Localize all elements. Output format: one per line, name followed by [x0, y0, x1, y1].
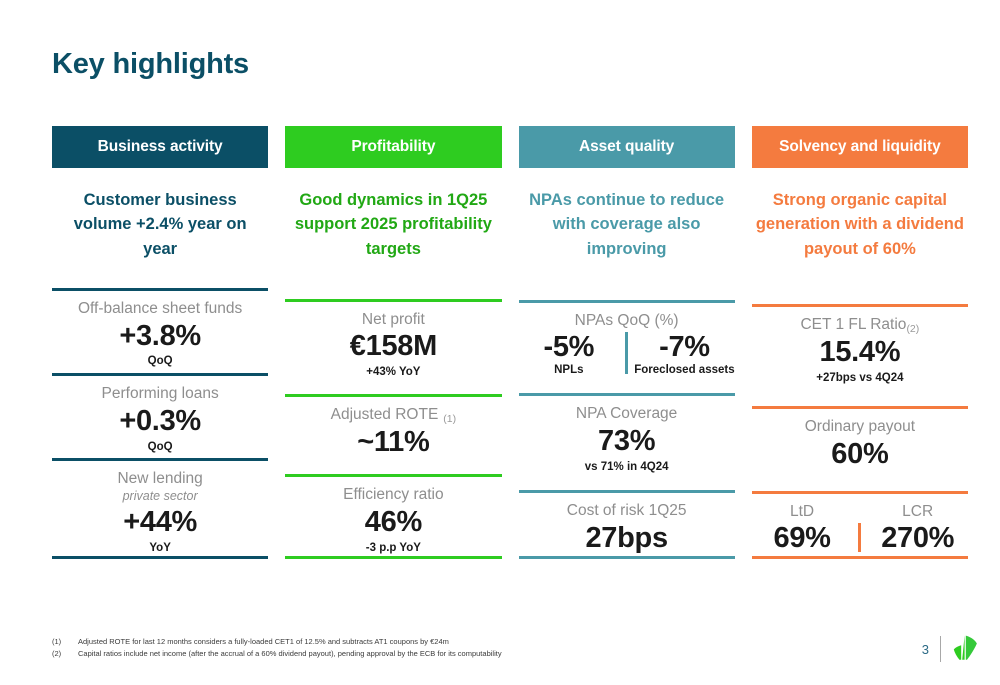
column-header-asset-quality[interactable]: Asset quality	[519, 126, 735, 168]
split-half-left: 69%	[752, 521, 853, 555]
column-statement-business-activity: Customer business volume +2.4% year on y…	[52, 188, 268, 284]
metric-label-text: Off-balance sheet funds	[78, 300, 242, 317]
metric-block: LtDLCR69%270%	[752, 491, 968, 558]
metric-value: +0.3%	[52, 405, 268, 439]
footnotes: (1)Adjusted ROTE for last 12 months cons…	[52, 636, 502, 659]
spacer	[752, 386, 968, 406]
metric-note-left: NPLs	[519, 364, 620, 378]
metric-value-left: -5%	[519, 330, 620, 364]
column-business-activity: Business activityCustomer business volum…	[52, 126, 268, 559]
column-statement-profitability: Good dynamics in 1Q25 support 2025 profi…	[285, 188, 501, 284]
split-label-row: LtDLCR	[752, 503, 968, 521]
metric-label-text: Net profit	[362, 311, 425, 328]
split-half-left: -5%NPLs	[519, 330, 620, 378]
metric-value: 73%	[519, 425, 735, 459]
metric-label: CET 1 FL Ratio(2)	[752, 316, 968, 334]
metric-value: 27bps	[519, 522, 735, 556]
metric-label-text: CET 1 FL Ratio	[800, 316, 906, 333]
footnote-text: Adjusted ROTE for last 12 months conside…	[78, 636, 449, 648]
metric-label: Ordinary payout	[752, 418, 968, 436]
metric-value: +44%	[52, 506, 268, 540]
page-meta: 3	[922, 634, 978, 664]
spacer	[285, 380, 501, 395]
metric-value-left: 69%	[752, 521, 853, 555]
footnote-number: (2)	[52, 648, 78, 660]
metric-label: Efficiency ratio	[285, 486, 501, 504]
metric-value: 15.4%	[752, 336, 968, 370]
metric-value-right: 270%	[867, 521, 968, 555]
metric-value: €158M	[285, 330, 501, 364]
column-solvency-and-liquidity: Solvency and liquidityStrong organic cap…	[752, 126, 968, 559]
split-value-row: 69%270%	[752, 521, 968, 555]
metric-block: Off-balance sheet funds+3.8%QoQ	[52, 288, 268, 369]
metric-block: Performing loans+0.3%QoQ	[52, 373, 268, 454]
spacer	[752, 284, 968, 304]
sabadell-leaf-logo	[952, 634, 978, 664]
metric-label: Adjusted ROTE(1)	[285, 406, 501, 424]
metric-value: +3.8%	[52, 320, 268, 354]
metric-label-text: Efficiency ratio	[343, 486, 444, 503]
metric-value: 60%	[752, 438, 968, 472]
column-header-profitability[interactable]: Profitability	[285, 126, 501, 168]
metric-block: Adjusted ROTE(1)~11%	[285, 394, 501, 459]
spacer	[285, 460, 501, 475]
footnote-marker: (1)	[443, 413, 456, 425]
metric-label-right: LCR	[867, 503, 968, 521]
footnote-marker: (2)	[906, 323, 919, 335]
metric-block: NPA Coverage73%vs 71% in 4Q24	[519, 393, 735, 474]
metric-note: vs 71% in 4Q24	[519, 461, 735, 475]
metric-label-text: Ordinary payout	[805, 418, 915, 435]
spacer	[519, 284, 735, 300]
metric-value: ~11%	[285, 426, 501, 460]
spacer	[285, 284, 501, 299]
metric-block: NPAs QoQ (%)-5%NPLs-7%Foreclosed assets	[519, 300, 735, 378]
metric-block: Cost of risk 1Q2527bps	[519, 490, 735, 558]
metric-sublabel: private sector	[52, 489, 268, 504]
footnote-text: Capital ratios include net income (after…	[78, 648, 502, 660]
page-number: 3	[922, 642, 929, 657]
footnote-item: (1)Adjusted ROTE for last 12 months cons…	[52, 636, 502, 648]
spacer	[852, 503, 867, 521]
metric-label: Cost of risk 1Q25	[519, 502, 735, 520]
metric-label: Performing loans	[52, 385, 268, 403]
metric-note: YoY	[52, 542, 268, 556]
footnote-number: (1)	[52, 636, 78, 648]
column-statement-solvency-and-liquidity: Strong organic capital generation with a…	[752, 188, 968, 284]
metric-note-right: Foreclosed assets	[634, 364, 735, 378]
metric-label-left: LtD	[752, 503, 853, 521]
metric-note: QoQ	[52, 441, 268, 455]
split-half-right: -7%Foreclosed assets	[634, 330, 735, 378]
column-header-solvency-and-liquidity[interactable]: Solvency and liquidity	[752, 126, 968, 168]
metric-label-text: New lending	[117, 470, 202, 487]
metric-note: QoQ	[52, 355, 268, 369]
page-title: Key highlights	[52, 48, 249, 81]
column-asset-quality: Asset qualityNPAs continue to reduce wit…	[519, 126, 735, 559]
spacer	[752, 471, 968, 491]
split-divider	[625, 332, 628, 374]
split-value-row: -5%NPLs-7%Foreclosed assets	[519, 330, 735, 378]
metric-note: -3 p.p YoY	[285, 542, 501, 556]
split-divider	[858, 523, 861, 551]
metric-label: NPAs QoQ (%)	[519, 312, 735, 330]
metric-label: Off-balance sheet funds	[52, 300, 268, 318]
metric-value-right: -7%	[634, 330, 735, 364]
metric-label-text: NPA Coverage	[576, 405, 677, 422]
metric-label-text: Cost of risk 1Q25	[567, 502, 687, 519]
split-half-right: 270%	[867, 521, 968, 555]
spacer	[519, 475, 735, 491]
footnote-item: (2)Capital ratios include net income (af…	[52, 648, 502, 660]
metric-label: NPA Coverage	[519, 405, 735, 423]
spacer	[519, 378, 735, 394]
metric-block: Net profit€158M+43% YoY	[285, 299, 501, 380]
page-divider	[940, 636, 941, 662]
metric-block: New lendingprivate sector+44%YoY	[52, 458, 268, 558]
metric-note: +43% YoY	[285, 366, 501, 380]
metric-block: CET 1 FL Ratio(2)15.4%+27bps vs 4Q24	[752, 304, 968, 385]
metric-label-text: Adjusted ROTE	[331, 406, 439, 423]
metric-label-text: Performing loans	[102, 385, 219, 402]
metric-block: Efficiency ratio46%-3 p.p YoY	[285, 474, 501, 558]
column-profitability: ProfitabilityGood dynamics in 1Q25 suppo…	[285, 126, 501, 559]
column-statement-asset-quality: NPAs continue to reduce with coverage al…	[519, 188, 735, 284]
metric-label: Net profit	[285, 311, 501, 329]
metric-note: +27bps vs 4Q24	[752, 372, 968, 386]
metric-block: Ordinary payout60%	[752, 406, 968, 471]
highlights-grid: Business activityCustomer business volum…	[52, 126, 968, 559]
column-header-business-activity[interactable]: Business activity	[52, 126, 268, 168]
metric-value: 46%	[285, 506, 501, 540]
metric-label: New lending	[52, 470, 268, 488]
